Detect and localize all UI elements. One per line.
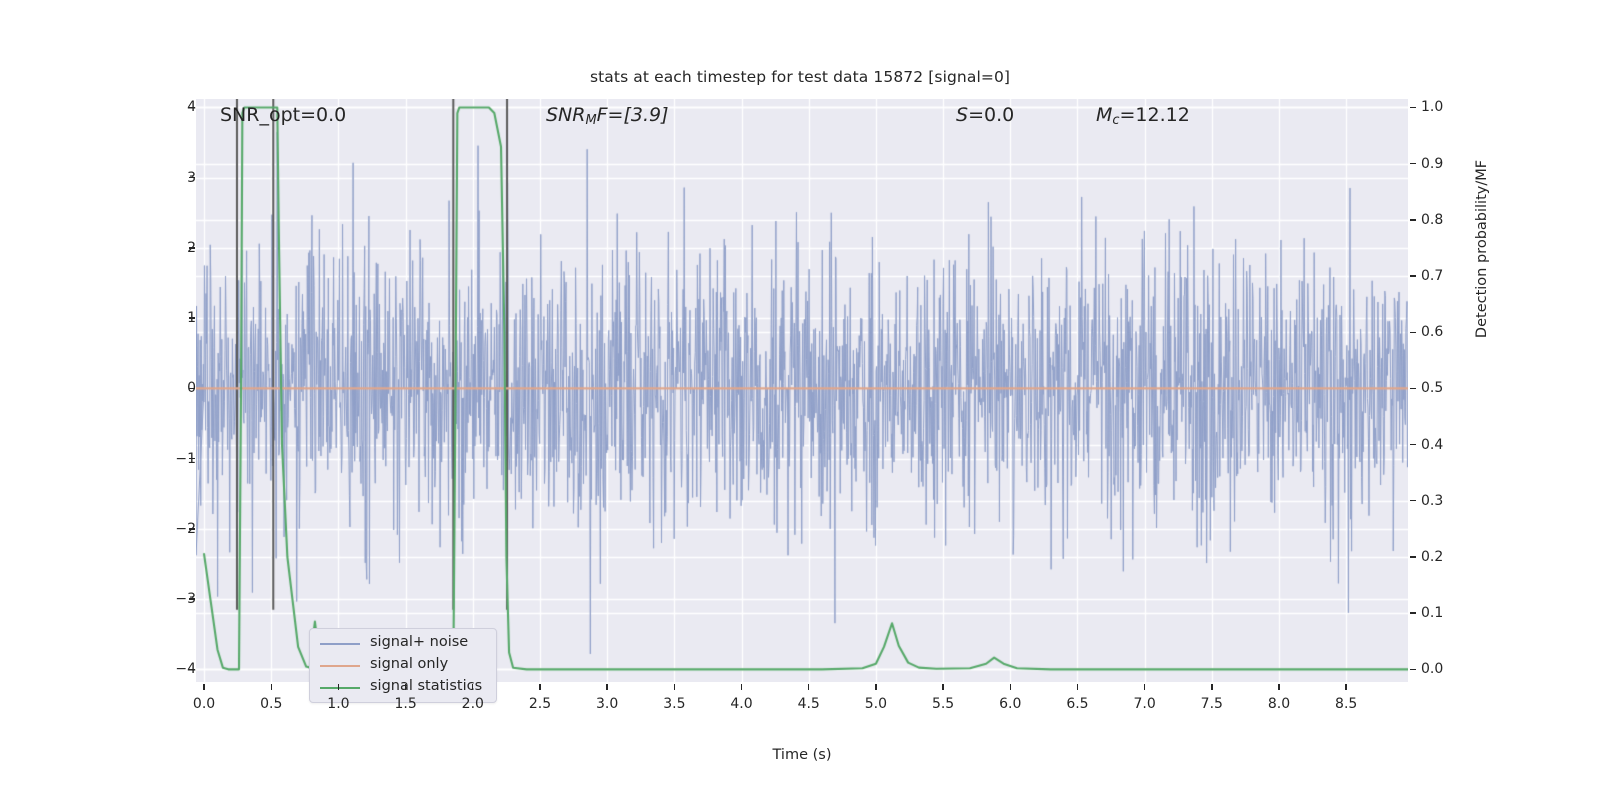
legend-swatch-signal-statistics xyxy=(320,687,360,689)
annotation-mc-sub: c xyxy=(1112,113,1119,128)
x-tick-label: 8.0 xyxy=(1268,696,1290,712)
y-tick-mark-right xyxy=(1410,500,1416,501)
x-tick-mark xyxy=(271,684,272,690)
annotation-s-post: =0.0 xyxy=(968,104,1014,126)
x-tick-label: 7.0 xyxy=(1133,696,1155,712)
y-tick-label-left: 0 xyxy=(0,380,196,396)
y-axis-label-right: Detection probability/MF xyxy=(1474,119,1490,379)
y-tick-label-right: 0.4 xyxy=(1421,437,1443,453)
legend-label-signal-statistics: signal statistics xyxy=(370,678,482,694)
y-tick-mark-left xyxy=(189,107,195,108)
annotation-s: S=0.0 xyxy=(956,104,1014,126)
y-tick-mark-right xyxy=(1410,444,1416,445)
x-tick-mark xyxy=(1010,684,1011,690)
x-tick-mark xyxy=(1144,684,1145,690)
x-tick-label: 6.0 xyxy=(999,696,1021,712)
y-tick-label-right: 0.7 xyxy=(1421,268,1443,284)
x-tick-label: 2.0 xyxy=(462,696,484,712)
legend-label-signal-only: signal only xyxy=(370,656,448,672)
y-tick-mark-right xyxy=(1410,669,1416,670)
x-tick-mark xyxy=(674,684,675,690)
y-tick-label-right: 0.5 xyxy=(1421,380,1443,396)
annotation-snr-opt: SNR_opt=0.0 xyxy=(220,104,346,126)
y-tick-label-left: 4 xyxy=(0,99,196,115)
y-tick-mark-right xyxy=(1410,556,1416,557)
x-tick-mark xyxy=(1077,684,1078,690)
y-tick-label-right: 0.6 xyxy=(1421,324,1443,340)
x-tick-label: 6.5 xyxy=(1066,696,1088,712)
y-tick-label-right: 0.0 xyxy=(1421,661,1443,677)
x-tick-label: 8.5 xyxy=(1335,696,1357,712)
x-tick-mark xyxy=(1211,684,1212,690)
plot-area: SNR_opt=0.0 SNRMF=[3.9] S=0.0 Mc=12.12 T… xyxy=(196,99,1408,682)
x-tick-label: 4.5 xyxy=(798,696,820,712)
x-tick-label: 4.0 xyxy=(730,696,752,712)
y-tick-label-left: 3 xyxy=(0,170,196,186)
plot-canvas xyxy=(196,99,1408,682)
page-title: stats at each timestep for test data 158… xyxy=(0,68,1600,86)
x-tick-mark xyxy=(1278,684,1279,690)
annotation-snr-mf-sub: M xyxy=(585,113,596,128)
x-tick-label: 3.0 xyxy=(596,696,618,712)
y-tick-label-right: 0.1 xyxy=(1421,605,1443,621)
x-tick-mark xyxy=(405,684,406,690)
legend-label-signal-noise: signal+ noise xyxy=(370,634,468,650)
y-tick-mark-left xyxy=(189,317,195,318)
y-tick-label-right: 0.9 xyxy=(1421,156,1443,172)
figure-canvas: stats at each timestep for test data 158… xyxy=(0,0,1600,800)
y-tick-mark-right xyxy=(1410,332,1416,333)
annotation-snr-mf: SNRMF=[3.9] xyxy=(546,104,669,128)
x-tick-mark xyxy=(808,684,809,690)
y-tick-label-right: 1.0 xyxy=(1421,99,1443,115)
y-tick-mark-left xyxy=(189,247,195,248)
y-tick-mark-left xyxy=(189,177,195,178)
x-tick-mark xyxy=(1345,684,1346,690)
annotation-mc-post: =12.12 xyxy=(1120,104,1190,126)
y-tick-label-left: −4 xyxy=(0,661,196,677)
y-tick-mark-left xyxy=(189,458,195,459)
annotation-snr-mf-post: F=[3.9] xyxy=(597,104,669,126)
annotation-snr-mf-pre: SNR xyxy=(546,104,585,126)
x-tick-label: 5.5 xyxy=(932,696,954,712)
y-tick-label-left: 1 xyxy=(0,310,196,326)
x-tick-label: 3.5 xyxy=(663,696,685,712)
y-tick-label-left: −3 xyxy=(0,591,196,607)
y-tick-label-left: −2 xyxy=(0,521,196,537)
legend-swatch-signal-noise xyxy=(320,643,360,645)
annotation-s-pre: S xyxy=(956,104,968,126)
y-tick-label-right: 0.3 xyxy=(1421,493,1443,509)
y-tick-label-right: 0.8 xyxy=(1421,212,1443,228)
x-axis-label: Time (s) xyxy=(196,747,1408,763)
x-tick-mark xyxy=(942,684,943,690)
x-tick-label: 2.5 xyxy=(529,696,551,712)
annotation-mc: Mc=12.12 xyxy=(1096,104,1190,128)
y-tick-mark-left xyxy=(189,528,195,529)
y-tick-mark-left xyxy=(189,598,195,599)
y-tick-mark-right xyxy=(1410,107,1416,108)
y-tick-label-left: 2 xyxy=(0,240,196,256)
x-tick-label: 5.0 xyxy=(865,696,887,712)
x-tick-label: 1.5 xyxy=(394,696,416,712)
y-tick-label-right: 0.2 xyxy=(1421,549,1443,565)
legend-item-signal-noise: signal+ noise xyxy=(320,632,496,656)
legend-swatch-signal-only xyxy=(320,665,360,667)
x-tick-mark xyxy=(203,684,204,690)
y-tick-mark-right xyxy=(1410,612,1416,613)
x-tick-label: 7.5 xyxy=(1201,696,1223,712)
y-tick-mark-right xyxy=(1410,275,1416,276)
y-tick-mark-right xyxy=(1410,163,1416,164)
x-tick-mark xyxy=(472,684,473,690)
x-tick-mark xyxy=(741,684,742,690)
y-tick-mark-right xyxy=(1410,219,1416,220)
x-tick-label: 1.0 xyxy=(327,696,349,712)
x-tick-mark xyxy=(539,684,540,690)
x-tick-label: 0.0 xyxy=(193,696,215,712)
y-tick-label-left: −1 xyxy=(0,451,196,467)
y-tick-mark-left xyxy=(189,388,195,389)
annotation-mc-pre: M xyxy=(1096,104,1112,126)
x-tick-label: 0.5 xyxy=(260,696,282,712)
y-tick-mark-right xyxy=(1410,388,1416,389)
legend: signal+ noise signal only signal statist… xyxy=(309,628,497,703)
x-tick-mark xyxy=(338,684,339,690)
x-tick-mark xyxy=(875,684,876,690)
y-tick-mark-left xyxy=(189,669,195,670)
x-tick-mark xyxy=(606,684,607,690)
legend-item-signal-only: signal only xyxy=(320,654,496,678)
